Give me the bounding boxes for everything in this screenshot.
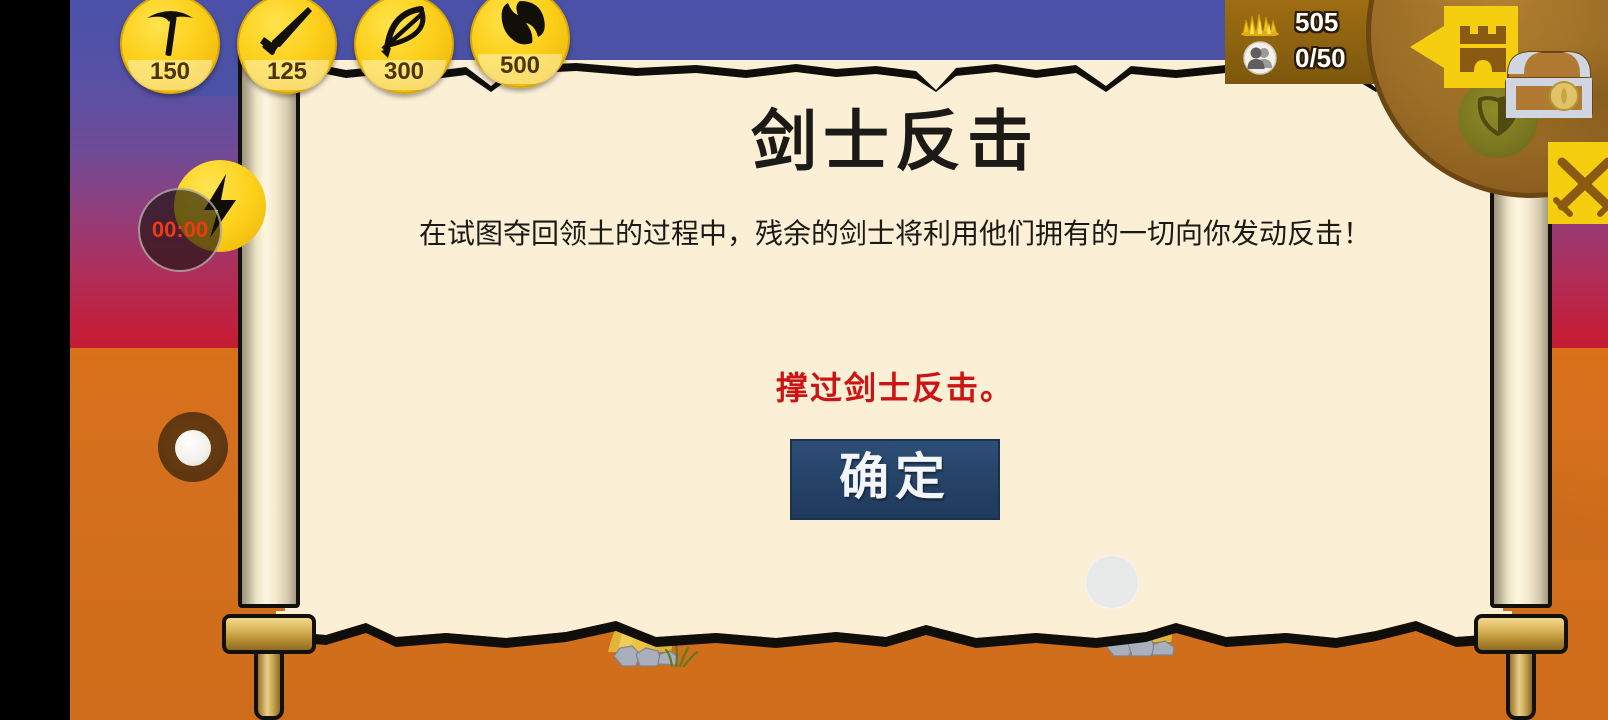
letterbox-left [0, 0, 70, 720]
touch-cursor-indicator [1085, 555, 1139, 609]
unit-button-swordsman[interactable]: 125 [237, 0, 337, 94]
sword-icon [239, 0, 335, 62]
scroll-content: 剑士反击 在试图夺回领土的过程中，残余的剑士将利用他们拥有的一切向你发动反击！ … [330, 60, 1460, 620]
confirm-button[interactable]: 确定 [790, 439, 1000, 520]
scroll-rod-cap [222, 614, 316, 654]
menu-round-button-knob [175, 430, 211, 466]
scroll-rod-foot [254, 650, 284, 720]
unit-button-archer[interactable]: 300 [354, 0, 454, 94]
unit-button-miner[interactable]: 150 [120, 0, 220, 94]
crossed-swords-arrow-right-icon [1546, 140, 1608, 226]
scroll-rod-left [238, 38, 300, 650]
helmet-icon [472, 0, 568, 56]
treasure-chest-icon[interactable] [1494, 40, 1600, 126]
dialog-objective-text: 撑过剑士反击。 [330, 363, 1460, 409]
unit-cost-label: 150 [122, 58, 218, 86]
battle-arrow-right-button[interactable] [1546, 140, 1608, 231]
ability-cooldown-label: 00:00 [152, 217, 208, 243]
unit-cost-label: 125 [239, 58, 335, 86]
game-screen: 剑士反击 在试图夺回领土的过程中，残余的剑士将利用他们拥有的一切向你发动反击！ … [0, 0, 1608, 720]
unit-button-knight[interactable]: 500 [470, 0, 570, 88]
hud-gold-row: 505 [1239, 4, 1338, 40]
unit-cost-label: 300 [356, 58, 452, 86]
hud-population-row: 0/50 [1239, 40, 1346, 76]
gold-value: 505 [1295, 7, 1338, 38]
pickaxe-icon [122, 0, 218, 62]
scroll-rod-cap [1474, 614, 1568, 654]
ability-cooldown-overlay: 00:00 [138, 188, 222, 272]
page-title: 剑士反击 [330, 108, 1460, 174]
scroll-dialog: 剑士反击 在试图夺回领土的过程中，残余的剑士将利用他们拥有的一切向你发动反击！ … [230, 60, 1560, 625]
scroll-rod-foot [1506, 650, 1536, 720]
population-icon [1239, 42, 1281, 74]
gold-coins-icon [1239, 6, 1281, 38]
scroll-rod-body [238, 38, 300, 608]
game-world: 剑士反击 在试图夺回领土的过程中，残余的剑士将利用他们拥有的一切向你发动反击！ … [70, 0, 1608, 720]
dialog-body-text: 在试图夺回领土的过程中，残余的剑士将利用他们拥有的一切向你发动反击！ [330, 214, 1460, 253]
bow-icon [356, 0, 452, 62]
unit-cost-label: 500 [472, 52, 568, 80]
population-value: 0/50 [1295, 43, 1346, 74]
